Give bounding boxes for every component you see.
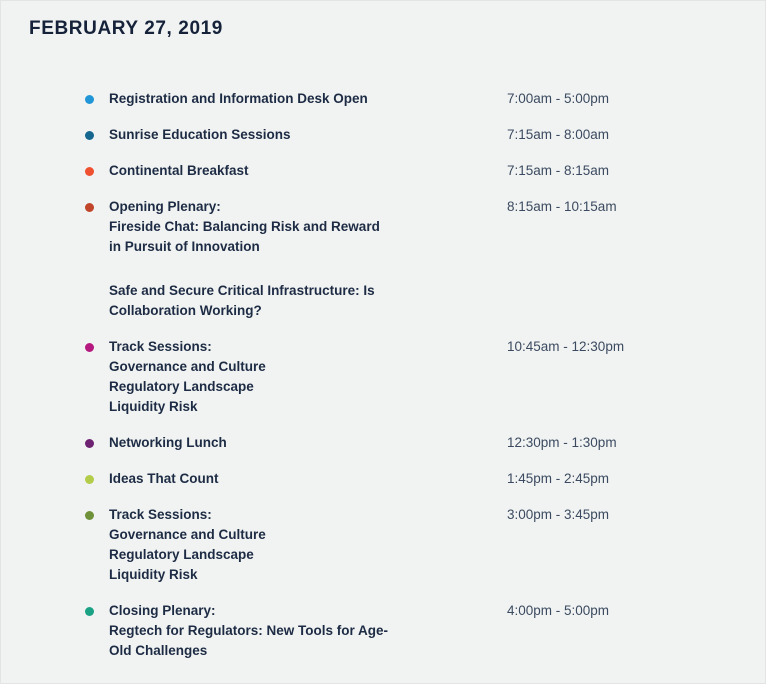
session-subtitle: Liquidity Risk — [109, 397, 499, 417]
session-title: Track Sessions: — [109, 505, 499, 525]
row-spacer — [1, 109, 766, 123]
session-title: Sunrise Education Sessions — [109, 125, 499, 145]
session-title: Safe and Secure Critical Infrastructure:… — [109, 281, 499, 301]
session-title-cell: Safe and Secure Critical Infrastructure:… — [109, 279, 507, 321]
session-title: Ideas That Count — [109, 469, 499, 489]
bullet-cell — [85, 159, 109, 176]
session-time-cell: 8:15am - 10:15am — [507, 195, 617, 217]
session-time: 10:45am - 12:30pm — [507, 337, 624, 357]
session-subtitle: Liquidity Risk — [109, 565, 499, 585]
bullet-cell — [85, 279, 109, 296]
session-subtitle: Governance and Culture — [109, 357, 499, 377]
session-subtitle: Old Challenges — [109, 641, 499, 661]
bullet-cell — [85, 467, 109, 484]
page-title: FEBRUARY 27, 2019 — [29, 18, 223, 40]
row-spacer — [1, 321, 766, 335]
bullet-cell — [85, 431, 109, 448]
agenda-row[interactable]: Track Sessions:Governance and CultureReg… — [1, 335, 766, 417]
row-spacer — [1, 181, 766, 195]
session-time: 1:45pm - 2:45pm — [507, 469, 609, 489]
session-time: 12:30pm - 1:30pm — [507, 433, 617, 453]
session-title-cell: Networking Lunch — [109, 431, 507, 453]
session-title-cell: Registration and Information Desk Open — [109, 87, 507, 109]
session-time-cell: 1:45pm - 2:45pm — [507, 467, 609, 489]
agenda-row[interactable]: Sunrise Education Sessions7:15am - 8:00a… — [1, 123, 766, 145]
bullet-placeholder — [85, 287, 94, 296]
row-spacer — [1, 257, 766, 279]
session-title-cell: Ideas That Count — [109, 467, 507, 489]
session-time: 7:00am - 5:00pm — [507, 89, 609, 109]
agenda-row[interactable]: Safe and Secure Critical Infrastructure:… — [1, 279, 766, 321]
session-title-cell: Sunrise Education Sessions — [109, 123, 507, 145]
row-spacer — [1, 417, 766, 431]
bullet-dot-icon — [85, 607, 94, 616]
bullet-dot-icon — [85, 203, 94, 212]
bullet-cell — [85, 335, 109, 352]
agenda-list: Registration and Information Desk Open7:… — [1, 87, 766, 661]
agenda-row[interactable]: Opening Plenary:Fireside Chat: Balancing… — [1, 195, 766, 257]
session-time: 3:00pm - 3:45pm — [507, 505, 609, 525]
bullet-dot-icon — [85, 511, 94, 520]
bullet-cell — [85, 195, 109, 212]
session-time-cell: 7:15am - 8:00am — [507, 123, 609, 145]
bullet-cell — [85, 123, 109, 140]
session-title: Closing Plenary: — [109, 601, 499, 621]
session-title: Continental Breakfast — [109, 161, 499, 181]
bullet-dot-icon — [85, 167, 94, 176]
session-time-cell: 4:00pm - 5:00pm — [507, 599, 609, 621]
session-time-cell: 3:00pm - 3:45pm — [507, 503, 609, 525]
session-time-cell: 7:00am - 5:00pm — [507, 87, 609, 109]
agenda-row[interactable]: Track Sessions:Governance and CultureReg… — [1, 503, 766, 585]
session-title-cell: Track Sessions:Governance and CultureReg… — [109, 335, 507, 417]
session-title-cell: Track Sessions:Governance and CultureReg… — [109, 503, 507, 585]
session-title: Opening Plenary: — [109, 197, 499, 217]
bullet-cell — [85, 599, 109, 616]
session-title: Networking Lunch — [109, 433, 499, 453]
agenda-row[interactable]: Continental Breakfast7:15am - 8:15am — [1, 159, 766, 181]
row-spacer — [1, 585, 766, 599]
agenda-row[interactable]: Networking Lunch12:30pm - 1:30pm — [1, 431, 766, 453]
bullet-dot-icon — [85, 131, 94, 140]
session-subtitle: Regtech for Regulators: New Tools for Ag… — [109, 621, 499, 641]
row-spacer — [1, 489, 766, 503]
session-time-cell: 12:30pm - 1:30pm — [507, 431, 617, 453]
session-subtitle: Regulatory Landscape — [109, 377, 499, 397]
bullet-dot-icon — [85, 343, 94, 352]
bullet-dot-icon — [85, 439, 94, 448]
agenda-row[interactable]: Closing Plenary:Regtech for Regulators: … — [1, 599, 766, 661]
session-title-cell: Continental Breakfast — [109, 159, 507, 181]
session-subtitle: in Pursuit of Innovation — [109, 237, 499, 257]
session-title-cell: Closing Plenary:Regtech for Regulators: … — [109, 599, 507, 661]
bullet-cell — [85, 87, 109, 104]
session-time-cell: 10:45am - 12:30pm — [507, 335, 624, 357]
session-time: 8:15am - 10:15am — [507, 197, 617, 217]
row-spacer — [1, 145, 766, 159]
bullet-dot-icon — [85, 95, 94, 104]
agenda-page: FEBRUARY 27, 2019 Registration and Infor… — [0, 0, 766, 684]
session-title-cell: Opening Plenary:Fireside Chat: Balancing… — [109, 195, 507, 257]
agenda-row[interactable]: Registration and Information Desk Open7:… — [1, 87, 766, 109]
session-subtitle: Regulatory Landscape — [109, 545, 499, 565]
session-time: 4:00pm - 5:00pm — [507, 601, 609, 621]
agenda-row[interactable]: Ideas That Count1:45pm - 2:45pm — [1, 467, 766, 489]
bullet-cell — [85, 503, 109, 520]
session-title: Registration and Information Desk Open — [109, 89, 499, 109]
session-title: Track Sessions: — [109, 337, 499, 357]
row-spacer — [1, 453, 766, 467]
session-time-cell: 7:15am - 8:15am — [507, 159, 609, 181]
session-subtitle: Governance and Culture — [109, 525, 499, 545]
session-time: 7:15am - 8:00am — [507, 125, 609, 145]
session-time: 7:15am - 8:15am — [507, 161, 609, 181]
bullet-dot-icon — [85, 475, 94, 484]
session-subtitle: Collaboration Working? — [109, 301, 499, 321]
session-subtitle: Fireside Chat: Balancing Risk and Reward — [109, 217, 499, 237]
